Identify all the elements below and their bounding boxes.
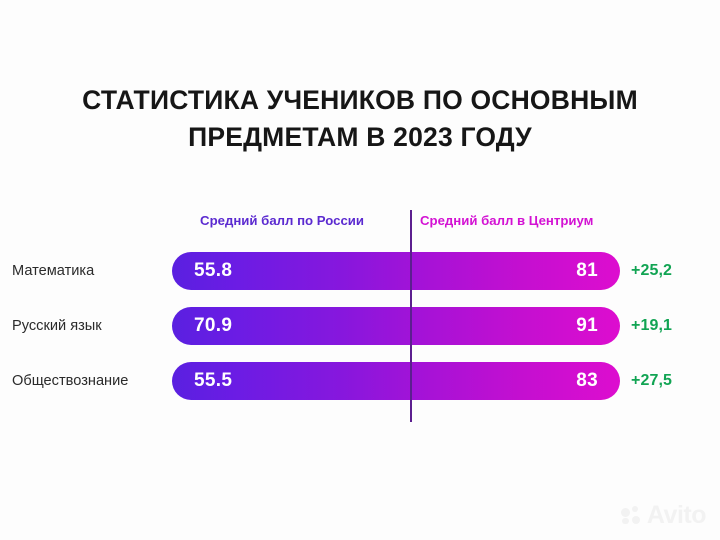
row-label: Обществознание: [0, 362, 160, 400]
bar-value-russia: 55.5: [194, 362, 232, 400]
bar-track: 70.9 91: [172, 307, 620, 345]
bar-value-centrium: 81: [576, 252, 598, 290]
bar-value-centrium: 91: [576, 307, 598, 345]
bar-track: 55.8 81: [172, 252, 620, 290]
legend-item-centrium: Средний балл в Центриум: [420, 213, 593, 228]
row-label: Русский язык: [0, 307, 160, 345]
page-title-line-1: СТАТИСТИКА УЧЕНИКОВ ПО ОСНОВНЫМ: [30, 82, 690, 119]
avito-dots-icon: [621, 506, 643, 526]
center-divider-line: [410, 210, 412, 422]
avito-watermark: Avito: [621, 503, 706, 528]
chart-rows: Математика 55.8 81 +25,2 Русский язык 70…: [0, 252, 720, 417]
row-label: Математика: [0, 252, 160, 290]
page-title: СТАТИСТИКА УЧЕНИКОВ ПО ОСНОВНЫМ ПРЕДМЕТА…: [0, 82, 720, 155]
delta-badge: +25,2: [631, 252, 672, 290]
bar-track: 55.5 83: [172, 362, 620, 400]
infographic-page: СТАТИСТИКА УЧЕНИКОВ ПО ОСНОВНЫМ ПРЕДМЕТА…: [0, 0, 720, 540]
bar-value-centrium: 83: [576, 362, 598, 400]
legend-item-russia: Средний балл по России: [200, 213, 364, 228]
delta-badge: +27,5: [631, 362, 672, 400]
page-title-line-2: ПРЕДМЕТАМ В 2023 ГОДУ: [30, 119, 690, 156]
bar-value-russia: 70.9: [194, 307, 232, 345]
chart-legend: Средний балл по России Средний балл в Це…: [172, 213, 620, 235]
watermark-label: Avito: [647, 503, 706, 528]
chart-row-mathematics: Математика 55.8 81 +25,2: [0, 252, 720, 307]
chart-row-social-studies: Обществознание 55.5 83 +27,5: [0, 362, 720, 417]
bar-value-russia: 55.8: [194, 252, 232, 290]
chart-row-russian-language: Русский язык 70.9 91 +19,1: [0, 307, 720, 362]
delta-badge: +19,1: [631, 307, 672, 345]
